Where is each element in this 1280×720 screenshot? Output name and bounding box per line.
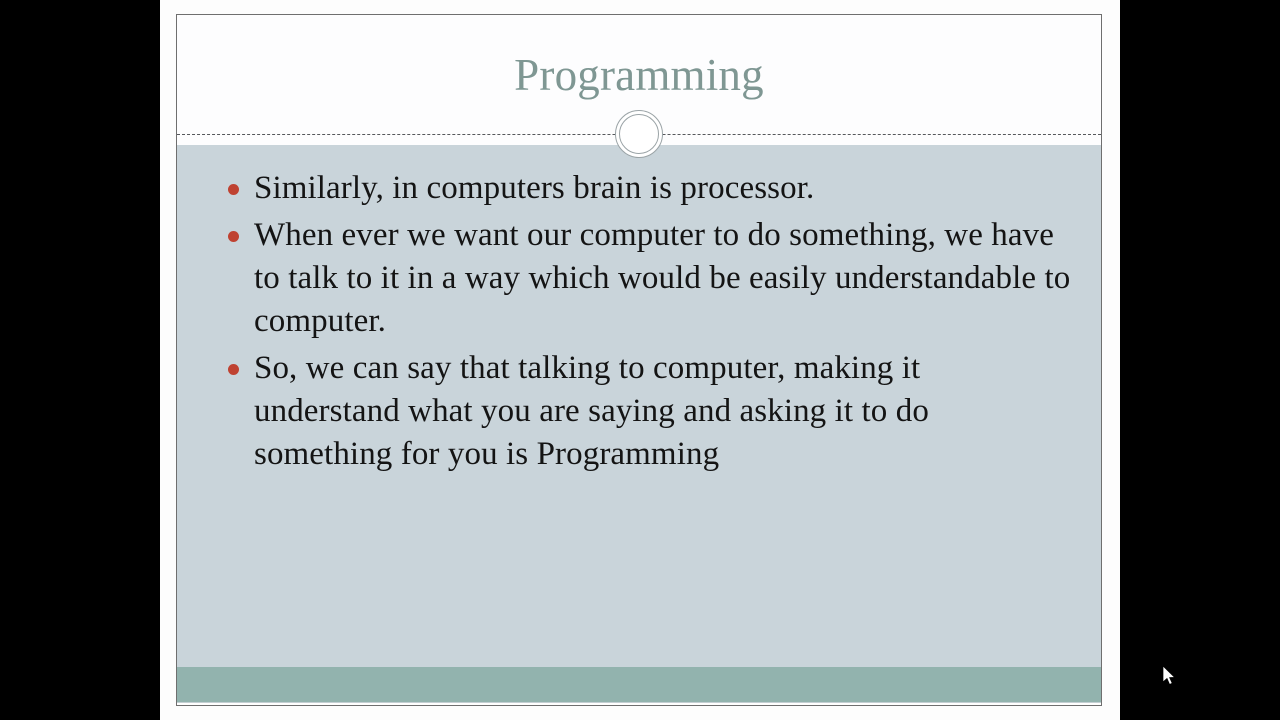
bullet-dot-icon (228, 364, 239, 375)
presentation-slide: Programming Similarly, in computers brai… (176, 14, 1102, 706)
mouse-pointer-arrow-icon (1163, 666, 1177, 686)
slide-title: Programming (177, 47, 1101, 103)
bullet-text: When ever we want our computer to do som… (254, 217, 1070, 339)
list-item: So, we can say that talking to computer,… (199, 347, 1073, 476)
list-item: When ever we want our computer to do som… (199, 214, 1073, 343)
bullet-dot-icon (228, 231, 239, 242)
video-player-stage: Programming Similarly, in computers brai… (0, 0, 1280, 720)
slide-footer-bar (177, 667, 1101, 703)
circle-ornament-icon (615, 110, 663, 158)
bullet-text: So, we can say that talking to computer,… (254, 350, 929, 472)
list-item: Similarly, in computers brain is process… (199, 167, 1073, 210)
bullet-text: Similarly, in computers brain is process… (254, 170, 814, 206)
slide-body: Similarly, in computers brain is process… (177, 145, 1101, 668)
bullet-dot-icon (228, 184, 239, 195)
bullet-list: Similarly, in computers brain is process… (199, 167, 1073, 476)
